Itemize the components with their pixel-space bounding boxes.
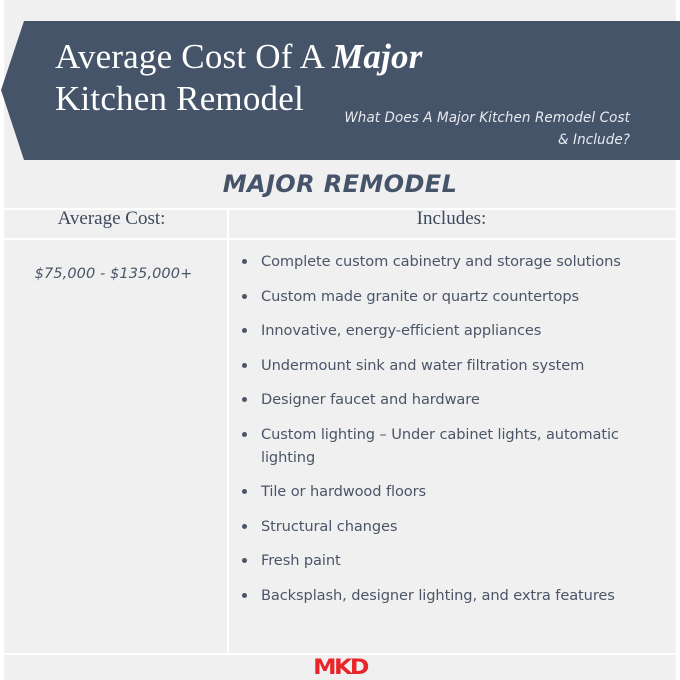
- bullet-dot-icon: [242, 524, 247, 529]
- list-item-label: Backsplash, designer lighting, and extra…: [261, 587, 615, 604]
- list-item: Backsplash, designer lighting, and extra…: [239, 584, 671, 607]
- bullet-dot-icon: [242, 259, 247, 264]
- list-item-label: Structural changes: [261, 518, 397, 535]
- table-column-divider: [227, 208, 229, 655]
- list-item: Structural changes: [239, 515, 671, 538]
- table-header-includes: Includes:: [227, 208, 676, 230]
- list-item-label: Custom lighting – Under cabinet lights, …: [261, 426, 619, 466]
- bullet-dot-icon: [242, 397, 247, 402]
- list-item-label: Custom made granite or quartz countertop…: [261, 288, 579, 305]
- list-item: Complete custom cabinetry and storage so…: [239, 250, 671, 273]
- brand-logo[interactable]: MKD: [0, 655, 680, 679]
- list-item: Tile or hardwood floors: [239, 480, 671, 503]
- infographic-page: Average Cost Of A MajorKitchen Remodel W…: [0, 0, 680, 680]
- section-title: MAJOR REMODEL: [0, 170, 680, 198]
- list-item: Custom lighting – Under cabinet lights, …: [239, 423, 671, 469]
- average-cost-value: $75,000 - $135,000+: [4, 266, 223, 282]
- bullet-dot-icon: [242, 593, 247, 598]
- list-item: Innovative, energy-efficient appliances: [239, 319, 671, 342]
- list-item: Undermount sink and water filtration sys…: [239, 354, 671, 377]
- list-item-label: Designer faucet and hardware: [261, 391, 480, 408]
- bullet-dot-icon: [242, 432, 247, 437]
- includes-list: Complete custom cabinetry and storage so…: [239, 250, 671, 618]
- list-item-label: Tile or hardwood floors: [261, 483, 426, 500]
- list-item-label: Complete custom cabinetry and storage so…: [261, 253, 621, 270]
- list-item-label: Fresh paint: [261, 552, 341, 569]
- table-header-average-cost: Average Cost:: [0, 208, 223, 230]
- bullet-dot-icon: [242, 294, 247, 299]
- mkd-logo-mark: MKD: [313, 655, 367, 679]
- page-title-line1-pre: Average Cost Of A: [55, 37, 332, 76]
- bullet-dot-icon: [242, 489, 247, 494]
- bullet-dot-icon: [242, 328, 247, 333]
- page-subtitle: What Does A Major Kitchen Remodel Cost &…: [202, 107, 630, 151]
- list-item: Fresh paint: [239, 549, 671, 572]
- list-item-label: Innovative, energy-efficient appliances: [261, 322, 541, 339]
- bullet-dot-icon: [242, 558, 247, 563]
- page-title-emphasis: Major: [332, 37, 422, 76]
- list-item: Custom made granite or quartz countertop…: [239, 285, 671, 308]
- bullet-dot-icon: [242, 363, 247, 368]
- list-item-label: Undermount sink and water filtration sys…: [261, 357, 584, 374]
- list-item: Designer faucet and hardware: [239, 388, 671, 411]
